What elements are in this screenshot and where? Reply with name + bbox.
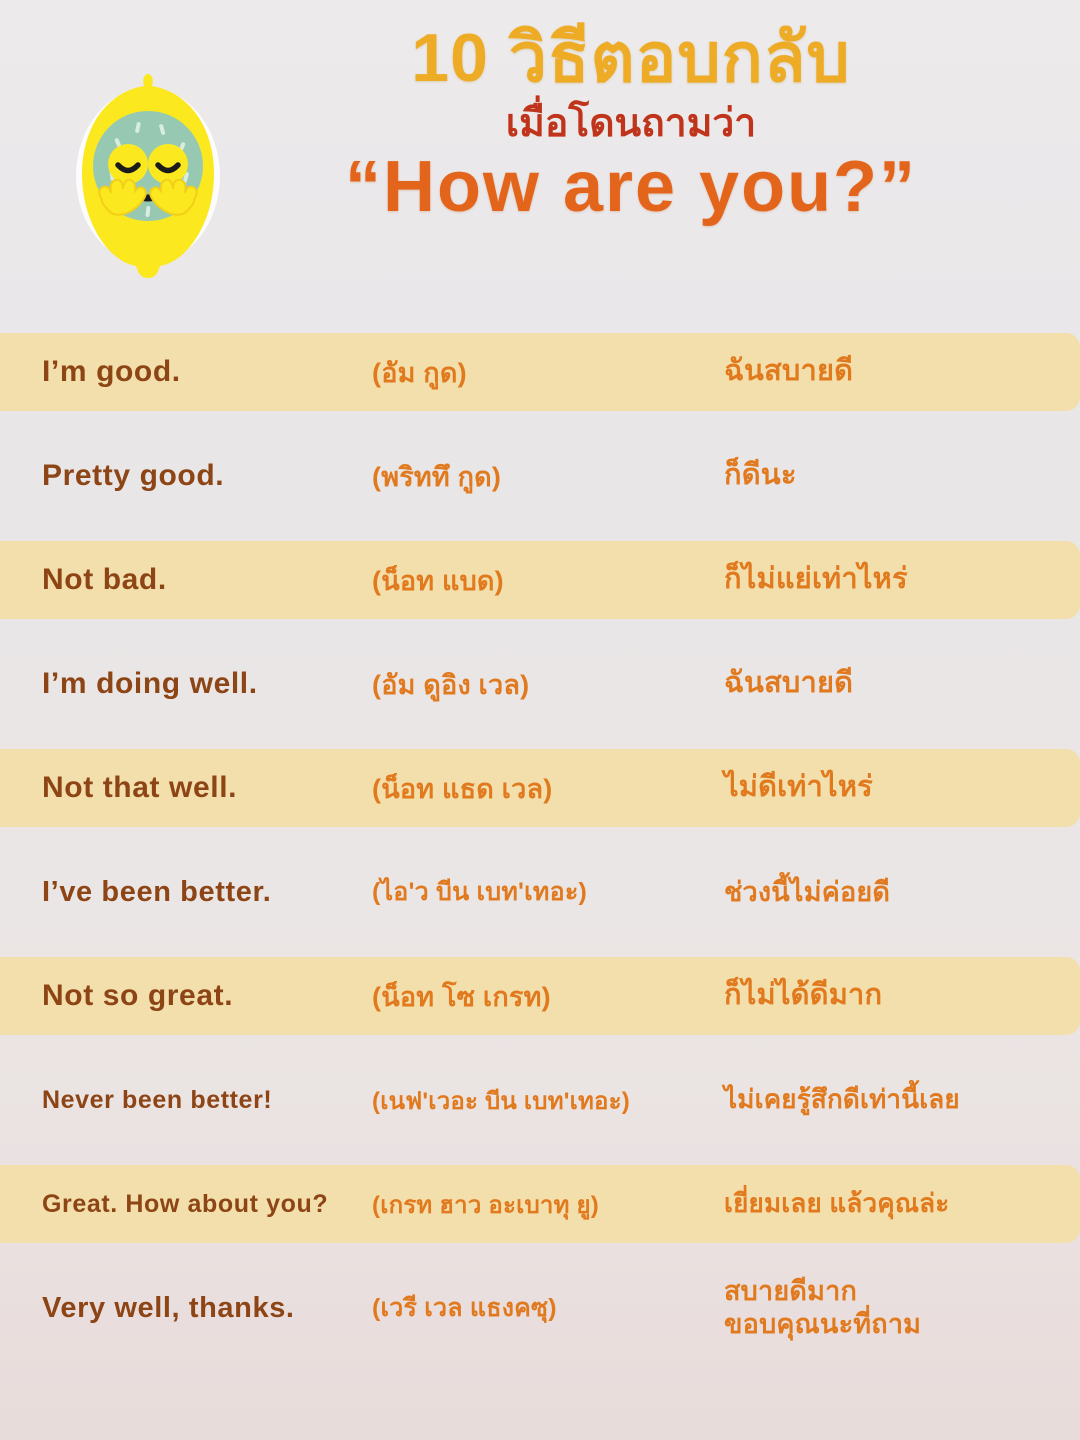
row-thai-meaning: เยี่ยมเลย แล้วคุณล่ะ: [724, 1188, 1080, 1220]
table-row: Not so great.(น็อท โซ เกรท)ก็ไม่ได้ดีมาก: [0, 957, 1080, 1035]
table-row: I’m doing well.(อัม ดูอิง เวล)ฉันสบายดี: [0, 632, 1080, 736]
row-english-phrase: Not bad.: [0, 563, 372, 597]
table-row: Not that well.(น็อท แธด เวล)ไม่ดีเท่าไหร…: [0, 749, 1080, 827]
row-english-phrase: Very well, thanks.: [0, 1292, 372, 1325]
row-english-phrase: Not that well.: [0, 771, 372, 805]
question-heading: “How are you?”: [200, 151, 1062, 223]
phrase-table: I’m good.(อัม กูด)ฉันสบายดีPretty good.(…: [0, 333, 1080, 1360]
row-english-phrase: Not so great.: [0, 979, 372, 1013]
row-pronunciation: (เนฟ'เวอะ บีน เบท'เทอะ): [372, 1081, 724, 1120]
table-row: I’m good.(อัม กูด)ฉันสบายดี: [0, 333, 1080, 411]
page-title: 10 วิธีตอบกลับ: [200, 24, 1062, 92]
row-pronunciation: (น็อท แบด): [372, 559, 724, 602]
row-english-phrase: I’m good.: [0, 355, 372, 389]
row-pronunciation: (ไอ'ว บีน เบท'เทอะ): [372, 872, 724, 912]
table-row: Not bad.(น็อท แบด)ก็ไม่แย่เท่าไหร่: [0, 541, 1080, 619]
row-english-phrase: Great. How about you?: [0, 1190, 372, 1219]
row-pronunciation: (อัม ดูอิง เวล): [372, 663, 724, 706]
row-thai-meaning: ช่วงนี้ไม่ค่อยดี: [724, 876, 1080, 909]
header-section: 10 วิธีตอบกลับ เมื่อโดนถามว่า “How are y…: [0, 0, 1080, 320]
row-thai-meaning: ฉันสบายดี: [724, 354, 1080, 389]
row-english-phrase: I’ve been better.: [0, 876, 372, 909]
table-row: Pretty good.(พริททึ กูด)ก็ดีนะ: [0, 424, 1080, 528]
row-english-phrase: I’m doing well.: [0, 667, 372, 701]
row-pronunciation: (เวรี เวล แธงคซุ): [372, 1288, 724, 1328]
row-thai-meaning: สบายดีมากขอบคุณนะที่ถาม: [724, 1275, 1080, 1341]
table-row: Very well, thanks.(เวรี เวล แธงคซุ)สบายด…: [0, 1256, 1080, 1360]
row-english-phrase: Pretty good.: [0, 459, 372, 493]
row-pronunciation: (พริททึ กูด): [372, 455, 724, 498]
row-pronunciation: (อัม กูด): [372, 351, 724, 394]
row-thai-meaning: ฉันสบายดี: [724, 666, 1080, 701]
row-thai-meaning: ไม่เคยรู้สึกดีเท่านี้เลย: [724, 1084, 1080, 1116]
page-subtitle: เมื่อโดนถามว่า: [200, 104, 1062, 145]
row-thai-meaning: ก็ไม่แย่เท่าไหร่: [724, 562, 1080, 597]
row-pronunciation: (เกรท ฮาว อะเบาทุ ยู): [372, 1185, 724, 1224]
row-thai-meaning: ไม่ดีเท่าไหร่: [724, 770, 1080, 805]
table-row: Never been better!(เนฟ'เวอะ บีน เบท'เทอะ…: [0, 1048, 1080, 1152]
row-english-phrase: Never been better!: [0, 1086, 372, 1115]
row-pronunciation: (น็อท โซ เกรท): [372, 975, 724, 1018]
table-row: I’ve been better.(ไอ'ว บีน เบท'เทอะ)ช่วง…: [0, 840, 1080, 944]
row-thai-meaning: ก็ดีนะ: [724, 458, 1080, 493]
row-thai-meaning: ก็ไม่ได้ดีมาก: [724, 978, 1080, 1013]
title-block: 10 วิธีตอบกลับ เมื่อโดนถามว่า “How are y…: [200, 24, 1062, 223]
row-pronunciation: (น็อท แธด เวล): [372, 767, 724, 810]
table-row: Great. How about you?(เกรท ฮาว อะเบาทุ ย…: [0, 1165, 1080, 1243]
